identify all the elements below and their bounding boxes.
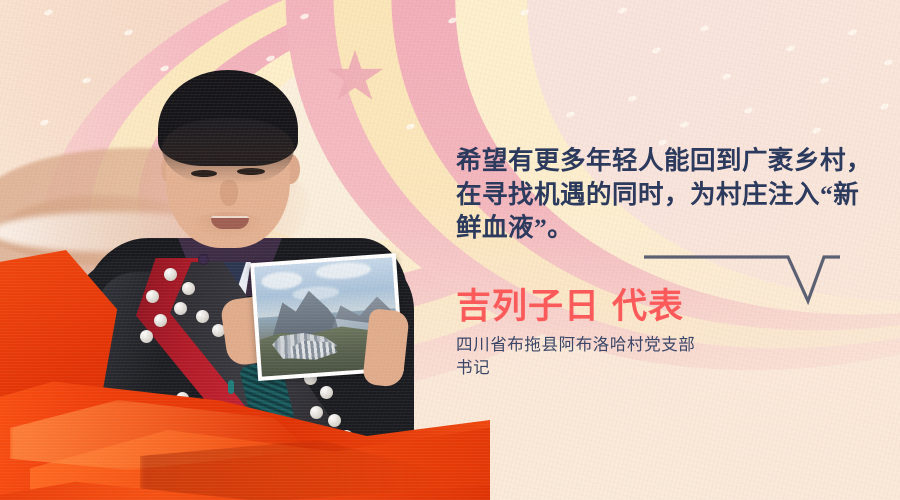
speaker-name-line: 吉列子日代表 (456, 286, 684, 328)
affiliation-line-1: 四川省布拖县阿布洛哈村党支部 (456, 334, 716, 357)
quote-text: 希望有更多年轻人能回到广袤乡村， 在寻找机遇的同时，为村庄注入“新 鲜血液”。 (456, 144, 886, 245)
orange-silk-drape (0, 250, 490, 500)
quote-line-1: 希望有更多年轻人能回到广袤乡村， (456, 144, 886, 178)
quote-line-3: 鲜血液”。 (456, 211, 886, 245)
affiliation-line-2: 书记 (456, 357, 716, 380)
speaker-name: 吉列子日 (456, 287, 600, 326)
quote-line-2: 在寻找机遇的同时，为村庄注入“新 (456, 178, 886, 212)
poster-canvas: 希望有更多年轻人能回到广袤乡村， 在寻找机遇的同时，为村庄注入“新 鲜血液”。 … (0, 0, 900, 500)
speaker-role-tag: 代表 (612, 287, 684, 326)
speaker-affiliation: 四川省布拖县阿布洛哈村党支部 书记 (456, 334, 716, 380)
